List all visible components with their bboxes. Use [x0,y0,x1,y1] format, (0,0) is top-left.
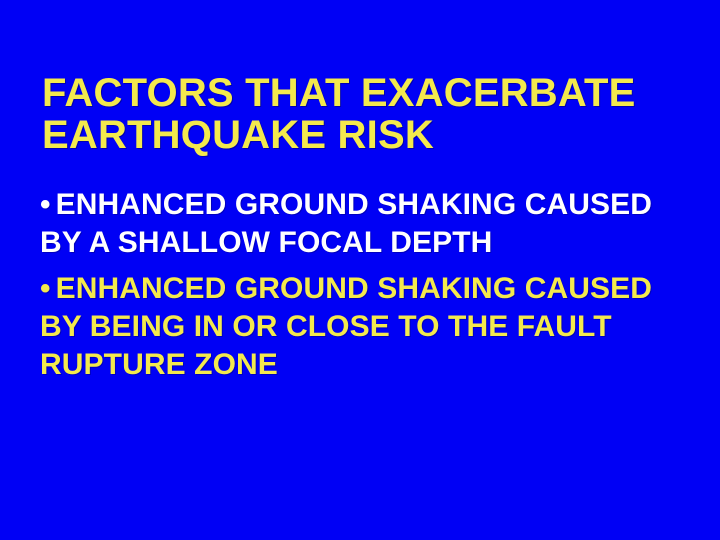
bullet-item-label: ENHANCED GROUND SHAKING CAUSED BY A SHAL… [40,188,652,259]
slide-title: FACTORS THAT EXACERBATE EARTHQUAKE RISK [42,72,682,156]
presentation-slide: FACTORS THAT EXACERBATE EARTHQUAKE RISK … [0,0,720,540]
bullet-point-icon: • [40,272,56,305]
bullet-item: •ENHANCED GROUND SHAKING CAUSED BY BEING… [40,270,680,384]
bullet-item: •ENHANCED GROUND SHAKING CAUSED BY A SHA… [40,186,680,262]
bullet-item-label: ENHANCED GROUND SHAKING CAUSED BY BEING … [40,272,652,381]
slide-body: •ENHANCED GROUND SHAKING CAUSED BY A SHA… [40,186,680,384]
bullet-point-icon: • [40,188,56,221]
